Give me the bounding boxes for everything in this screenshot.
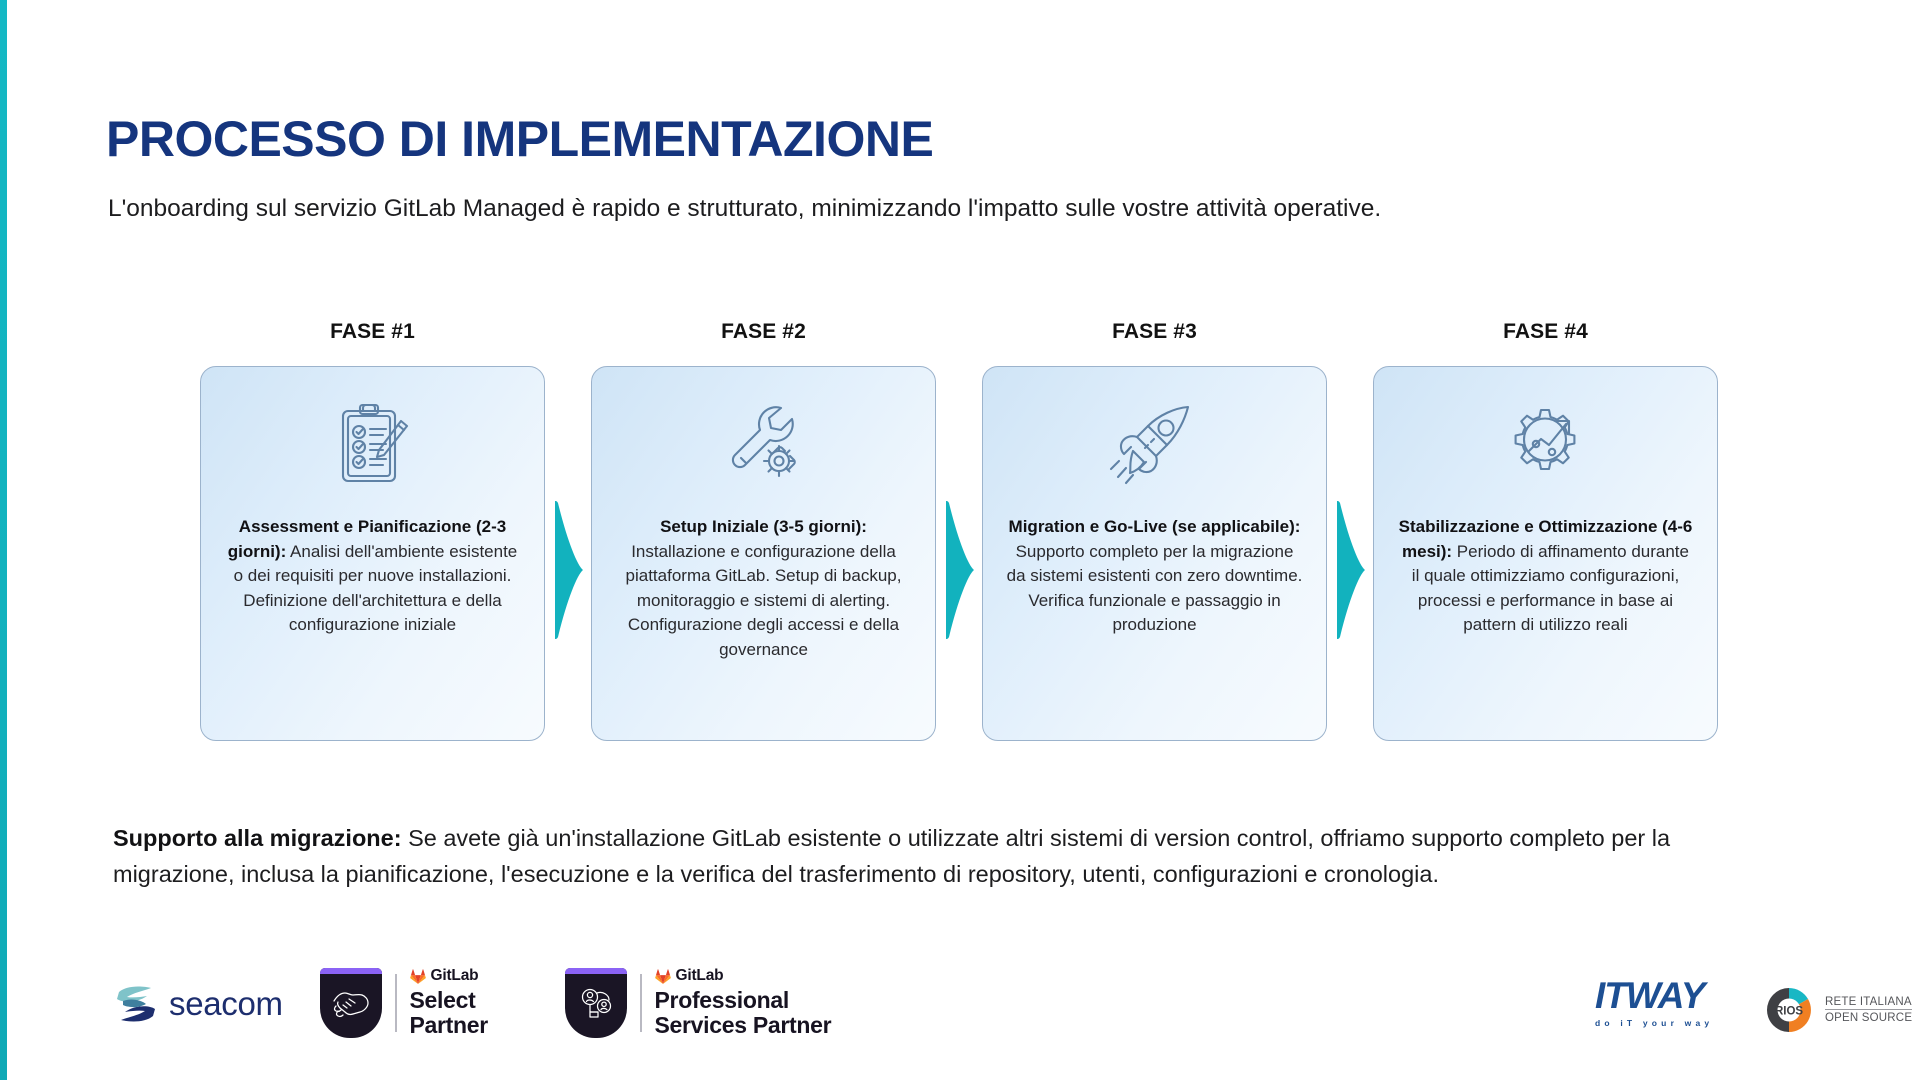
phase-card-2[interactable]: FASE #2 Setup Iniziale (3-5 giorni): Ins… <box>591 320 936 741</box>
phases-row: FASE #1 <box>200 320 1720 760</box>
migration-note-label: Supporto alla migrazione: <box>113 825 402 851</box>
connector-arrow-1 <box>553 495 587 645</box>
itway-wordmark: ITWAY <box>1595 977 1713 1015</box>
gitlab-select-partner-badge: GitLab Select Partner <box>320 967 488 1038</box>
rocket-icon <box>1109 397 1201 493</box>
phase-text-3: Migration e Go-Live (se applicabile): Su… <box>983 493 1326 638</box>
handshake-icon <box>320 968 382 1038</box>
gitlab-brand-name: GitLab <box>431 967 479 985</box>
phase-desc-4: Periodo di affinamento durante il quale … <box>1412 542 1689 635</box>
gitlab-tier-line1: Select <box>410 988 488 1013</box>
phase-card-4[interactable]: FASE #4 Stabilizzazione e Ottimizzazione… <box>1373 320 1718 741</box>
migration-note: Supporto alla migrazione: Se avete già u… <box>113 820 1673 892</box>
rios-mark-text: RIOS <box>1775 1006 1803 1018</box>
people-network-icon <box>565 968 627 1038</box>
gear-growth-arrow-icon <box>1500 397 1592 493</box>
phase-title-2: Setup Iniziale (3-5 giorni): <box>660 517 867 536</box>
phase-card-body-3: Migration e Go-Live (se applicabile): Su… <box>982 366 1327 741</box>
phase-label-4: FASE #4 <box>1373 320 1718 344</box>
gitlab-brand-name: GitLab <box>676 967 724 985</box>
badge-divider <box>395 974 397 1032</box>
badge-divider <box>640 974 642 1032</box>
phase-desc-3: Supporto completo per la migrazione da s… <box>1007 542 1303 635</box>
rios-text: RETE ITALIANA OPEN SOURCE <box>1825 996 1912 1024</box>
phase-label-2: FASE #2 <box>591 320 936 344</box>
gitlab-tanuki-icon <box>655 969 671 984</box>
gitlab-brandline: GitLab <box>655 967 832 985</box>
connector-arrow-2 <box>944 495 978 645</box>
gitlab-brandline: GitLab <box>410 967 488 985</box>
phase-text-1: Assessment e Pianificazione (2-3 giorni)… <box>201 493 544 638</box>
page-title: PROCESSO DI IMPLEMENTAZIONE <box>106 110 933 168</box>
seacom-logo: seacom <box>113 981 283 1027</box>
footer: seacom <box>0 965 1920 1080</box>
phase-label-3: FASE #3 <box>982 320 1327 344</box>
rios-ring-icon: RIOS <box>1762 983 1816 1037</box>
page-subtitle: L'onboarding sul servizio GitLab Managed… <box>108 190 1598 228</box>
phase-desc-2: Installazione e configurazione della pia… <box>626 542 902 659</box>
phase-title-3: Migration e Go-Live (se applicabile): <box>1009 517 1301 536</box>
rios-logo: RIOS RETE ITALIANA OPEN SOURCE <box>1762 983 1912 1037</box>
phase-card-body-4: Stabilizzazione e Ottimizzazione (4-6 me… <box>1373 366 1718 741</box>
wrench-gear-icon <box>718 397 810 493</box>
phase-card-3[interactable]: FASE #3 Migration e Go-Live (s <box>982 320 1327 741</box>
rios-line-1: RETE ITALIANA <box>1825 996 1912 1010</box>
phase-card-body-1: Assessment e Pianificazione (2-3 giorni)… <box>200 366 545 741</box>
itway-tagline: do iT your way <box>1595 1018 1713 1028</box>
badge-text: GitLab Select Partner <box>410 967 488 1038</box>
gitlab-professional-services-badge: GitLab Professional Services Partner <box>565 967 831 1038</box>
phase-card-body-2: Setup Iniziale (3-5 giorni): Installazio… <box>591 366 936 741</box>
clipboard-checklist-icon <box>327 397 419 493</box>
seacom-wave-icon <box>113 981 157 1027</box>
phase-card-1[interactable]: FASE #1 <box>200 320 545 741</box>
phase-text-2: Setup Iniziale (3-5 giorni): Installazio… <box>592 493 935 662</box>
gitlab-tier-line2: Services Partner <box>655 1013 832 1038</box>
slide-root: PROCESSO DI IMPLEMENTAZIONE L'onboarding… <box>0 0 1920 1080</box>
gitlab-tier-line1: Professional <box>655 988 832 1013</box>
gitlab-tanuki-icon <box>410 969 426 984</box>
badge-text: GitLab Professional Services Partner <box>655 967 832 1038</box>
phase-label-1: FASE #1 <box>200 320 545 344</box>
seacom-wordmark: seacom <box>169 985 283 1023</box>
itway-logo: ITWAY do iT your way <box>1595 977 1713 1028</box>
phase-text-4: Stabilizzazione e Ottimizzazione (4-6 me… <box>1374 493 1717 638</box>
gitlab-tier-line2: Partner <box>410 1013 488 1038</box>
left-accent-bar <box>0 0 7 1080</box>
rios-line-2: OPEN SOURCE <box>1825 1010 1912 1024</box>
connector-arrow-3 <box>1335 495 1369 645</box>
